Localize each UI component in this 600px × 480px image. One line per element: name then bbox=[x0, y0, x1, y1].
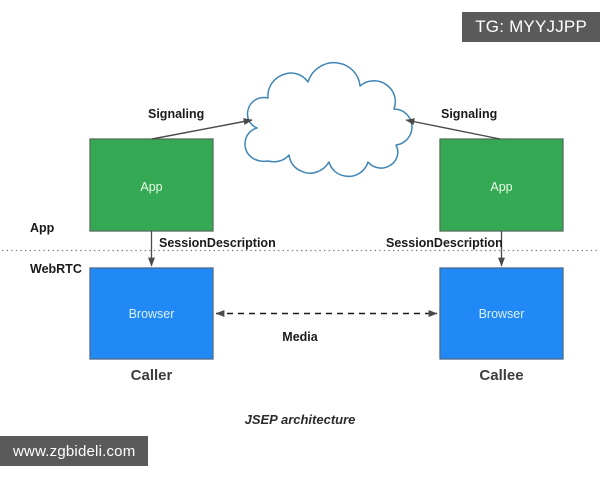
diagram-graphics bbox=[0, 0, 600, 480]
callee-label: Callee bbox=[440, 367, 563, 384]
layer-label-app: App bbox=[30, 221, 54, 235]
site-watermark: www.zgbideli.com bbox=[0, 436, 148, 466]
right-browser-label: Browser bbox=[440, 307, 563, 321]
right-signaling-label: Signaling bbox=[441, 107, 497, 121]
network-cloud-icon bbox=[245, 63, 412, 177]
diagram-caption: JSEP architecture bbox=[0, 412, 600, 427]
tg-badge: TG: MYYJJPP bbox=[462, 12, 600, 42]
left-browser-label: Browser bbox=[90, 307, 213, 321]
media-label: Media bbox=[0, 330, 600, 344]
layer-label-webrtc: WebRTC bbox=[30, 262, 82, 276]
left-signaling-label: Signaling bbox=[148, 107, 204, 121]
left-signaling-arrow bbox=[152, 120, 252, 139]
right-sessiondescription-label: SessionDescription bbox=[386, 236, 503, 250]
left-app-label: App bbox=[90, 180, 213, 194]
right-app-label: App bbox=[440, 180, 563, 194]
caller-label: Caller bbox=[90, 367, 213, 384]
diagram-canvas: App App Browser Browser Signaling Signal… bbox=[0, 0, 600, 480]
left-sessiondescription-label: SessionDescription bbox=[159, 236, 276, 250]
right-signaling-arrow bbox=[406, 120, 500, 139]
